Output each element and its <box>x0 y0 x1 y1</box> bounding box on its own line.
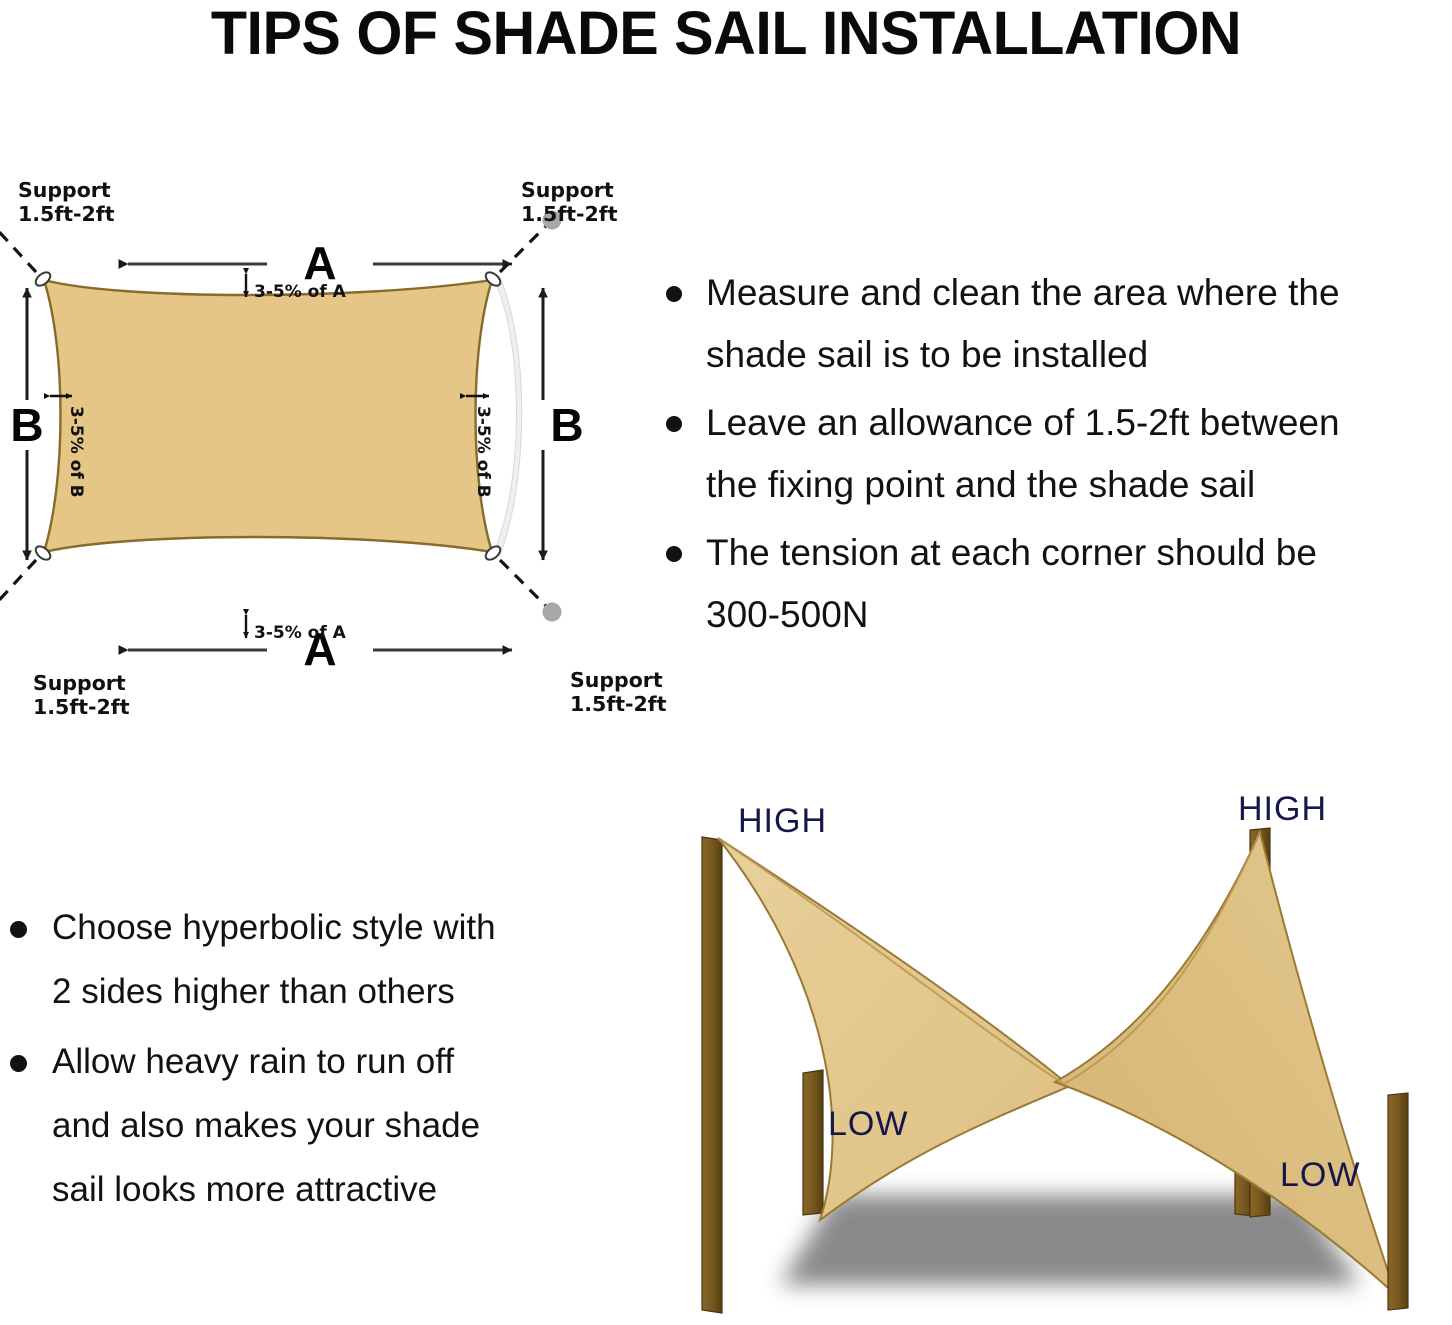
tips-bullets: Measure and clean the area where the sha… <box>648 262 1452 646</box>
shade-sail-shape <box>44 280 492 552</box>
tip-line: 2 sides higher than others <box>52 972 455 1011</box>
list-item: The tension at each corner should be 300… <box>648 522 1452 646</box>
tip-line: and also makes your shade <box>52 1106 480 1145</box>
list-item: Leave an allowance of 1.5-2ft between th… <box>648 392 1452 516</box>
support-label-line1: Support <box>521 178 614 202</box>
tip-line: 300-500N <box>706 594 869 635</box>
support-label-bottom-right: Support 1.5ft-2ft <box>570 668 667 716</box>
tip-line: Measure and clean the area where the <box>706 272 1340 313</box>
dimension-height-left: B <box>10 288 43 560</box>
curve-depth-label-top: 3-5% of A <box>254 282 347 302</box>
tip-line: sail looks more attractive <box>52 1170 437 1209</box>
post-label-low-right: LOW <box>1280 1156 1360 1194</box>
support-label-bottom-left: Support 1.5ft-2ft <box>33 671 130 719</box>
sail-backing-shadow <box>497 278 522 555</box>
support-label-line2: 1.5ft-2ft <box>521 202 618 226</box>
support-label-top-right: Support 1.5ft-2ft <box>521 178 618 226</box>
curve-depth-label-left: 3-5% of B <box>66 406 86 498</box>
dimension-height-right: B <box>543 288 584 560</box>
tip-line: Allow heavy rain to run off <box>52 1042 454 1081</box>
sail-lobe-left <box>718 838 1070 1220</box>
support-label-line1: Support <box>570 668 663 692</box>
curve-depth-label-right: 3-5% of B <box>473 406 493 498</box>
curve-depth-label-bottom: 3-5% of A <box>254 623 347 643</box>
bullet-dot-icon <box>10 921 27 938</box>
bullet-dot-icon <box>10 1055 27 1072</box>
post-label-low-left: LOW <box>828 1105 908 1143</box>
bullet-dot-icon <box>666 286 682 302</box>
support-label-line2: 1.5ft-2ft <box>570 692 667 716</box>
tip-line: The tension at each corner should be <box>706 532 1317 573</box>
dimension-label-B-left: B <box>10 399 43 451</box>
post-label-high-right: HIGH <box>1238 790 1327 828</box>
list-item: Allow heavy rain to run off and also mak… <box>0 1030 620 1222</box>
tip-line: the fixing point and the shade sail <box>706 464 1255 505</box>
post-high-left <box>702 837 722 1313</box>
hyperbolic-sail-diagram: HIGH HIGH LOW LOW <box>660 790 1452 1325</box>
tip-line: Leave an allowance of 1.5-2ft between <box>706 402 1340 443</box>
support-label-line2: 1.5ft-2ft <box>18 202 115 226</box>
curve-depth-bottom: 3-5% of A <box>246 615 347 643</box>
support-label-line2: 1.5ft-2ft <box>33 695 130 719</box>
ground-shadow <box>780 1195 1360 1285</box>
support-label-top-left: Support 1.5ft-2ft <box>18 178 115 226</box>
post-low-left <box>803 1070 823 1215</box>
support-label-line1: Support <box>18 178 111 202</box>
dimension-label-B-right: B <box>550 399 583 451</box>
list-item: Measure and clean the area where the sha… <box>648 262 1452 386</box>
list-item: Choose hyperbolic style with 2 sides hig… <box>0 896 620 1024</box>
tip-line: Choose hyperbolic style with <box>52 908 496 947</box>
post-label-high-left: HIGH <box>738 802 827 840</box>
tip-line: shade sail is to be installed <box>706 334 1148 375</box>
hyperbolic-bullets: Choose hyperbolic style with 2 sides hig… <box>0 896 620 1222</box>
bullet-dot-icon <box>666 416 682 432</box>
curve-depth-left: 3-5% of B <box>50 396 86 498</box>
bullet-dot-icon <box>666 546 682 562</box>
support-label-line1: Support <box>33 671 126 695</box>
installation-tips-list: Measure and clean the area where the sha… <box>648 262 1452 652</box>
hyperbolic-tips-list: Choose hyperbolic style with 2 sides hig… <box>0 896 620 1228</box>
rectangular-sail-diagram: Support 1.5ft-2ft Support 1.5ft-2ft Supp… <box>0 160 640 740</box>
post-low-right <box>1388 1093 1408 1310</box>
page-title: TIPS OF SHADE SAIL INSTALLATION <box>22 0 1430 68</box>
